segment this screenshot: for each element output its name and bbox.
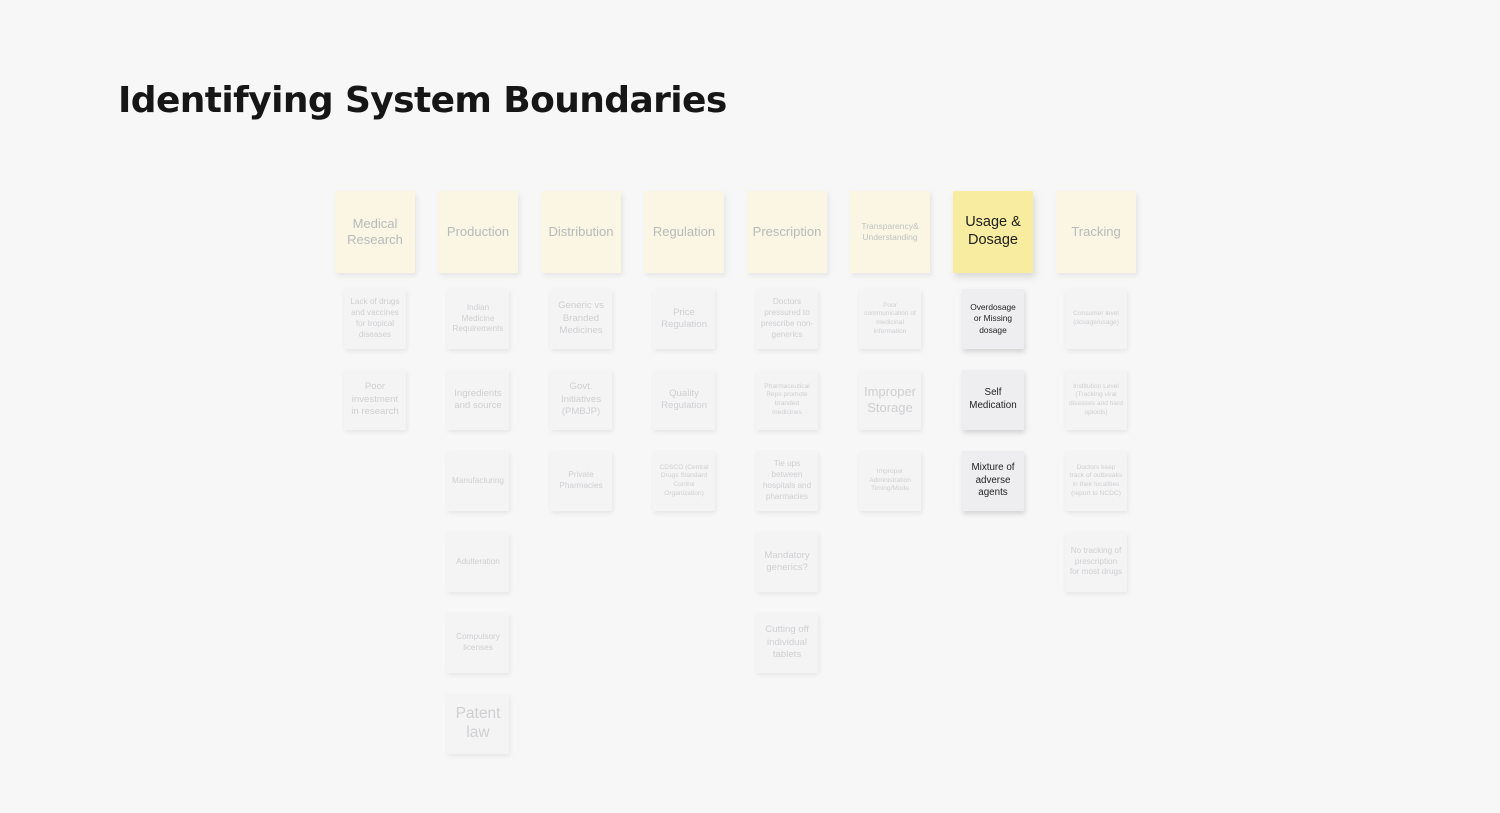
column-header-label: Transparency& Understanding <box>855 221 925 243</box>
idea-card[interactable]: Mandatory generics? <box>756 532 818 592</box>
column-header-note[interactable]: Prescription <box>747 191 827 273</box>
idea-card[interactable]: Compulsory licenses <box>447 613 509 673</box>
idea-card-text: Mandatory generics? <box>760 550 814 575</box>
idea-card[interactable]: Overdosage or Missing dosage <box>962 289 1024 349</box>
idea-card-text: Poor investment in research <box>348 381 402 418</box>
page-title: Identifying System Boundaries <box>118 80 727 121</box>
idea-card-text: Ingredients and source <box>451 388 505 413</box>
idea-card-text: Cutting off individual tablets <box>760 624 814 661</box>
idea-card-text: Generic vs Branded Medicines <box>554 300 608 337</box>
idea-card-text: Improper Administration Timing/Mode <box>863 468 917 494</box>
column-header-label: Usage & Dosage <box>958 214 1028 249</box>
column-header-label: Prescription <box>753 224 822 240</box>
idea-card[interactable]: Tie ups between hospitals and pharmacies <box>756 451 818 511</box>
idea-card-text: Pharmaceutical Reps promote branded medi… <box>760 383 814 418</box>
idea-card-text: Price Regulation <box>657 307 711 332</box>
idea-card-text: Adulteration <box>456 557 500 568</box>
idea-card[interactable]: CDSCO (Central Drugs Standard Control Or… <box>653 451 715 511</box>
idea-card[interactable]: Consumer level (dosage/usage) <box>1065 289 1127 349</box>
column-header-label: Production <box>447 224 509 240</box>
board-column: Transparency& UnderstandingPoor communic… <box>850 191 930 273</box>
idea-card[interactable]: Improper Storage <box>859 370 921 430</box>
board-column: Usage & DosageOverdosage or Missing dosa… <box>953 191 1033 273</box>
idea-card[interactable]: Generic vs Branded Medicines <box>550 289 612 349</box>
idea-card[interactable]: No tracking of prescription for most dru… <box>1065 532 1127 592</box>
idea-card[interactable]: Cutting off individual tablets <box>756 613 818 673</box>
idea-card-text: Quality Regulation <box>657 388 711 413</box>
column-header-note[interactable]: Production <box>438 191 518 273</box>
idea-card[interactable]: Poor investment in research <box>344 370 406 430</box>
board-column: PrescriptionDoctors pressured to prescri… <box>747 191 827 273</box>
column-header-note[interactable]: Regulation <box>644 191 724 273</box>
board-column: DistributionGeneric vs Branded Medicines… <box>541 191 621 273</box>
idea-card[interactable]: Institution Level (Tracking viral diseas… <box>1065 370 1127 430</box>
idea-card-text: Doctors keep track of outbreaks in their… <box>1069 464 1123 499</box>
idea-card[interactable]: Patent law <box>447 694 509 754</box>
idea-card-text: Govt. Initiatives (PMBJP) <box>554 381 608 418</box>
idea-card-text: Tie ups between hospitals and pharmacies <box>760 459 814 502</box>
board-column: ProductionIndian Medicine RequirementsIn… <box>438 191 518 273</box>
column-header-label: Regulation <box>653 224 715 240</box>
idea-card-text: Self Medication <box>966 387 1020 412</box>
idea-card[interactable]: Self Medication <box>962 370 1024 430</box>
idea-card[interactable]: Manufacturing <box>447 451 509 511</box>
idea-card[interactable]: Improper Administration Timing/Mode <box>859 451 921 511</box>
sticky-note-board: Identifying System Boundaries Medical Re… <box>0 0 1500 813</box>
idea-card[interactable]: Quality Regulation <box>653 370 715 430</box>
idea-card[interactable]: Doctors keep track of outbreaks in their… <box>1065 451 1127 511</box>
idea-card-text: Overdosage or Missing dosage <box>966 302 1020 335</box>
column-header-note[interactable]: Distribution <box>541 191 621 273</box>
board-column: RegulationPrice RegulationQuality Regula… <box>644 191 724 273</box>
idea-card[interactable]: Poor communication of medicinal informat… <box>859 289 921 349</box>
column-header-note[interactable]: Transparency& Understanding <box>850 191 930 273</box>
column-header-label: Distribution <box>548 224 613 240</box>
idea-card[interactable]: Private Pharmacies <box>550 451 612 511</box>
idea-card-text: Poor communication of medicinal informat… <box>863 302 917 337</box>
idea-card-text: Private Pharmacies <box>554 470 608 492</box>
column-header-note[interactable]: Tracking <box>1056 191 1136 273</box>
column-header-label: Tracking <box>1071 224 1120 240</box>
idea-card[interactable]: Adulteration <box>447 532 509 592</box>
column-header-note[interactable]: Usage & Dosage <box>953 191 1033 273</box>
board-column: Medical ResearchLack of drugs and vaccin… <box>335 191 415 273</box>
idea-card[interactable]: Doctors pressured to prescribe non-gener… <box>756 289 818 349</box>
idea-card[interactable]: Lack of drugs and vaccines for tropical … <box>344 289 406 349</box>
idea-card-text: Doctors pressured to prescribe non-gener… <box>760 297 814 340</box>
idea-card-text: Mixture of adverse agents <box>966 462 1020 500</box>
idea-card-text: Institution Level (Tracking viral diseas… <box>1069 383 1123 418</box>
idea-card-text: CDSCO (Central Drugs Standard Control Or… <box>657 464 711 499</box>
idea-card-text: Lack of drugs and vaccines for tropical … <box>348 297 402 340</box>
idea-card-text: No tracking of prescription for most dru… <box>1069 546 1123 578</box>
idea-card-text: Patent law <box>451 705 505 743</box>
idea-card-text: Improper Storage <box>863 384 917 417</box>
idea-card[interactable]: Ingredients and source <box>447 370 509 430</box>
column-header-label: Medical Research <box>340 216 410 248</box>
idea-card-text: Consumer level (dosage/usage) <box>1069 310 1123 327</box>
idea-card-text: Compulsory licenses <box>451 632 505 654</box>
idea-card-text: Manufacturing <box>452 476 504 487</box>
idea-card[interactable]: Mixture of adverse agents <box>962 451 1024 511</box>
idea-card[interactable]: Price Regulation <box>653 289 715 349</box>
column-header-note[interactable]: Medical Research <box>335 191 415 273</box>
idea-card[interactable]: Govt. Initiatives (PMBJP) <box>550 370 612 430</box>
idea-card-text: Indian Medicine Requirements <box>451 303 505 335</box>
idea-card[interactable]: Indian Medicine Requirements <box>447 289 509 349</box>
board-column: TrackingConsumer level (dosage/usage)Ins… <box>1056 191 1136 273</box>
idea-card[interactable]: Pharmaceutical Reps promote branded medi… <box>756 370 818 430</box>
